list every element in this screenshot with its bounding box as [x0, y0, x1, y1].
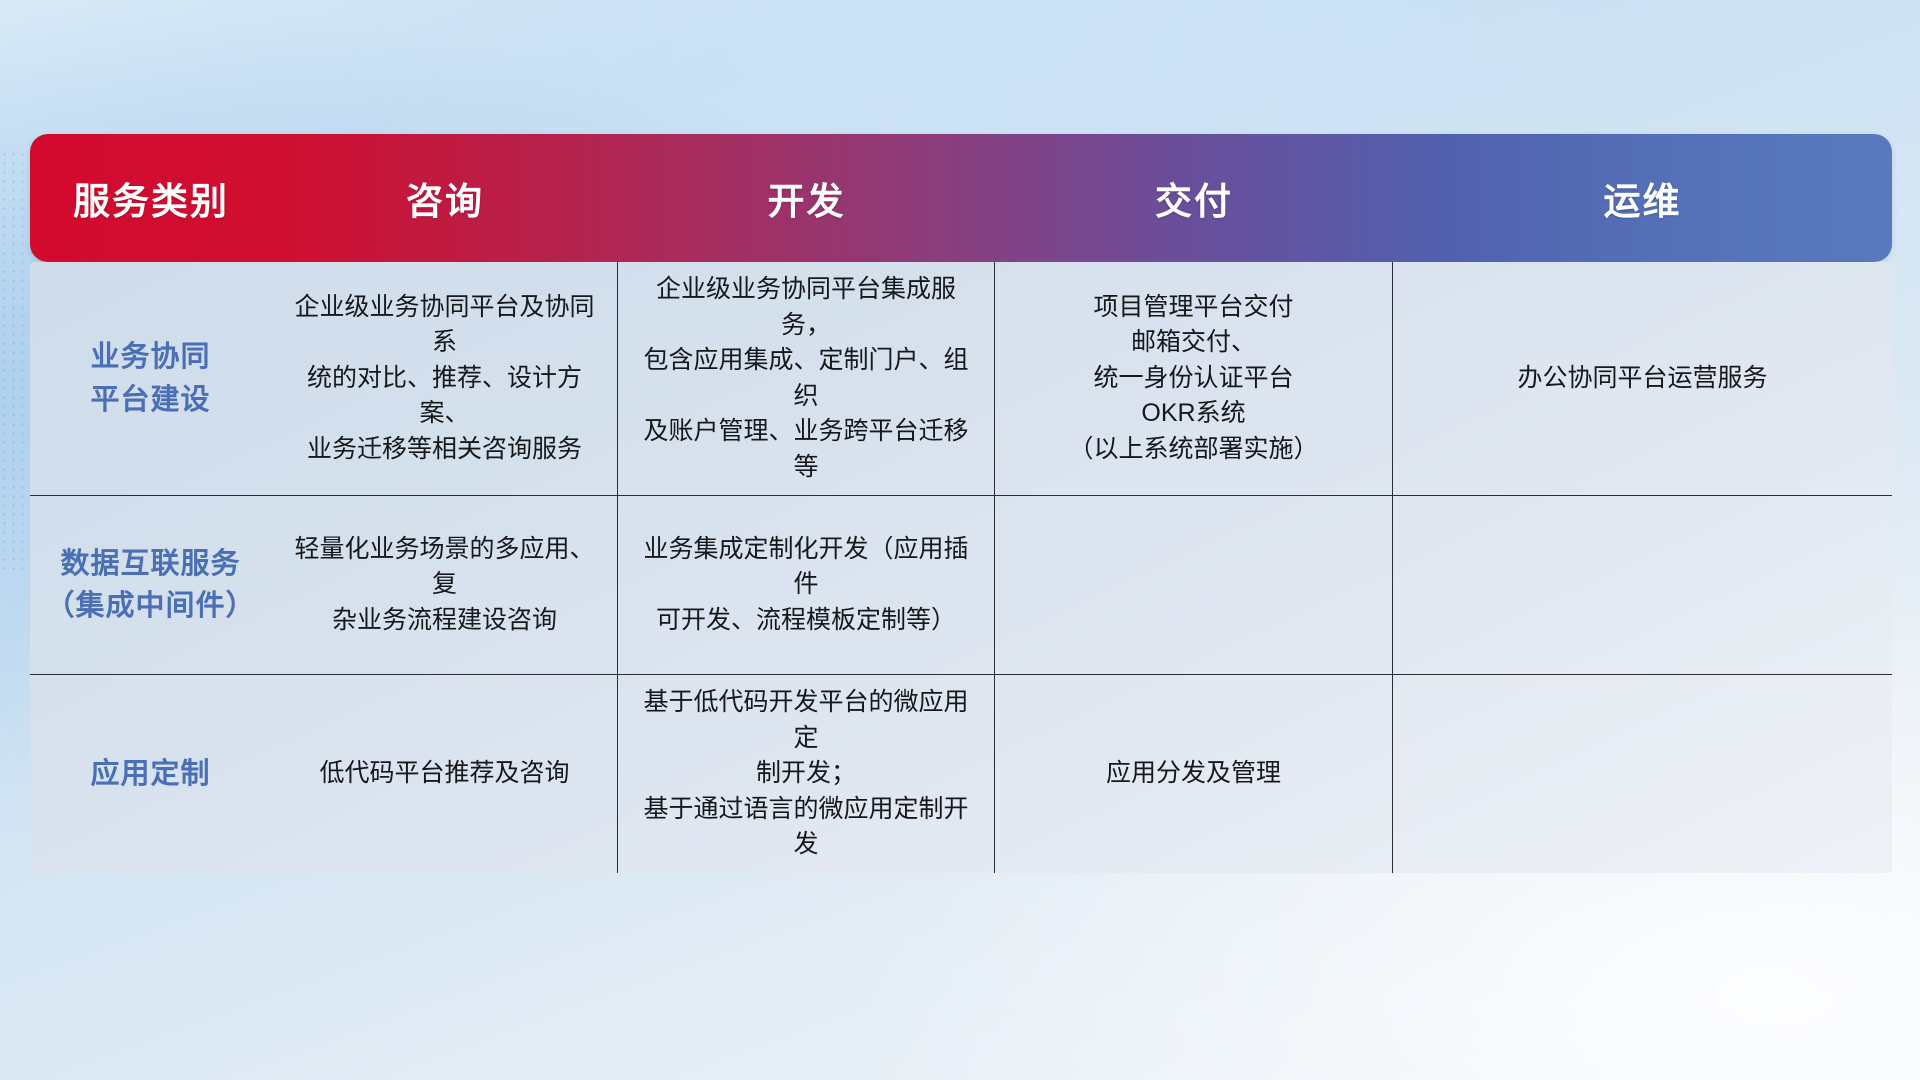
- table-body: 业务协同 平台建设 企业级业务协同平台及协同系 统的对比、推荐、设计方案、 业务…: [30, 262, 1892, 873]
- row-category-label: 应用定制: [30, 675, 272, 873]
- cell-consulting: 轻量化业务场景的多应用、复 杂业务流程建设咨询: [272, 496, 618, 674]
- cell-operations: 办公协同平台运营服务: [1393, 262, 1892, 495]
- cell-consulting: 企业级业务协同平台及协同系 统的对比、推荐、设计方案、 业务迁移等相关咨询服务: [272, 262, 618, 495]
- cell-delivery: 应用分发及管理: [995, 675, 1393, 873]
- column-header-operations: 运维: [1393, 134, 1892, 262]
- cell-development: 企业级业务协同平台集成服务， 包含应用集成、定制门户、组织 及账户管理、业务跨平…: [618, 262, 995, 495]
- table-row: 数据互联服务 （集成中间件） 轻量化业务场景的多应用、复 杂业务流程建设咨询 业…: [30, 496, 1892, 675]
- column-header-category: 服务类别: [30, 134, 272, 262]
- cell-delivery: 项目管理平台交付 邮箱交付、 统一身份认证平台 OKR系统 （以上系统部署实施）: [995, 262, 1393, 495]
- service-matrix-table: 服务类别 咨询 开发 交付 运维 业务协同 平台建设 企业级业务协同平台及协同系…: [30, 134, 1892, 873]
- cell-consulting: 低代码平台推荐及咨询: [272, 675, 618, 873]
- cell-development: 基于低代码开发平台的微应用定 制开发； 基于通过语言的微应用定制开发: [618, 675, 995, 873]
- table-row: 业务协同 平台建设 企业级业务协同平台及协同系 统的对比、推荐、设计方案、 业务…: [30, 262, 1892, 496]
- column-header-development: 开发: [618, 134, 995, 262]
- table-header-row: 服务类别 咨询 开发 交付 运维: [30, 134, 1892, 262]
- column-header-delivery: 交付: [995, 134, 1393, 262]
- cell-operations: [1393, 675, 1892, 873]
- row-category-label: 业务协同 平台建设: [30, 262, 272, 495]
- column-header-consulting: 咨询: [272, 134, 618, 262]
- slide-canvas: 服务类别 咨询 开发 交付 运维 业务协同 平台建设 企业级业务协同平台及协同系…: [0, 0, 1920, 1080]
- cell-operations: [1393, 496, 1892, 674]
- cell-delivery: [995, 496, 1393, 674]
- cell-development: 业务集成定制化开发（应用插件 可开发、流程模板定制等）: [618, 496, 995, 674]
- table-row: 应用定制 低代码平台推荐及咨询 基于低代码开发平台的微应用定 制开发； 基于通过…: [30, 675, 1892, 873]
- row-category-label: 数据互联服务 （集成中间件）: [30, 496, 272, 674]
